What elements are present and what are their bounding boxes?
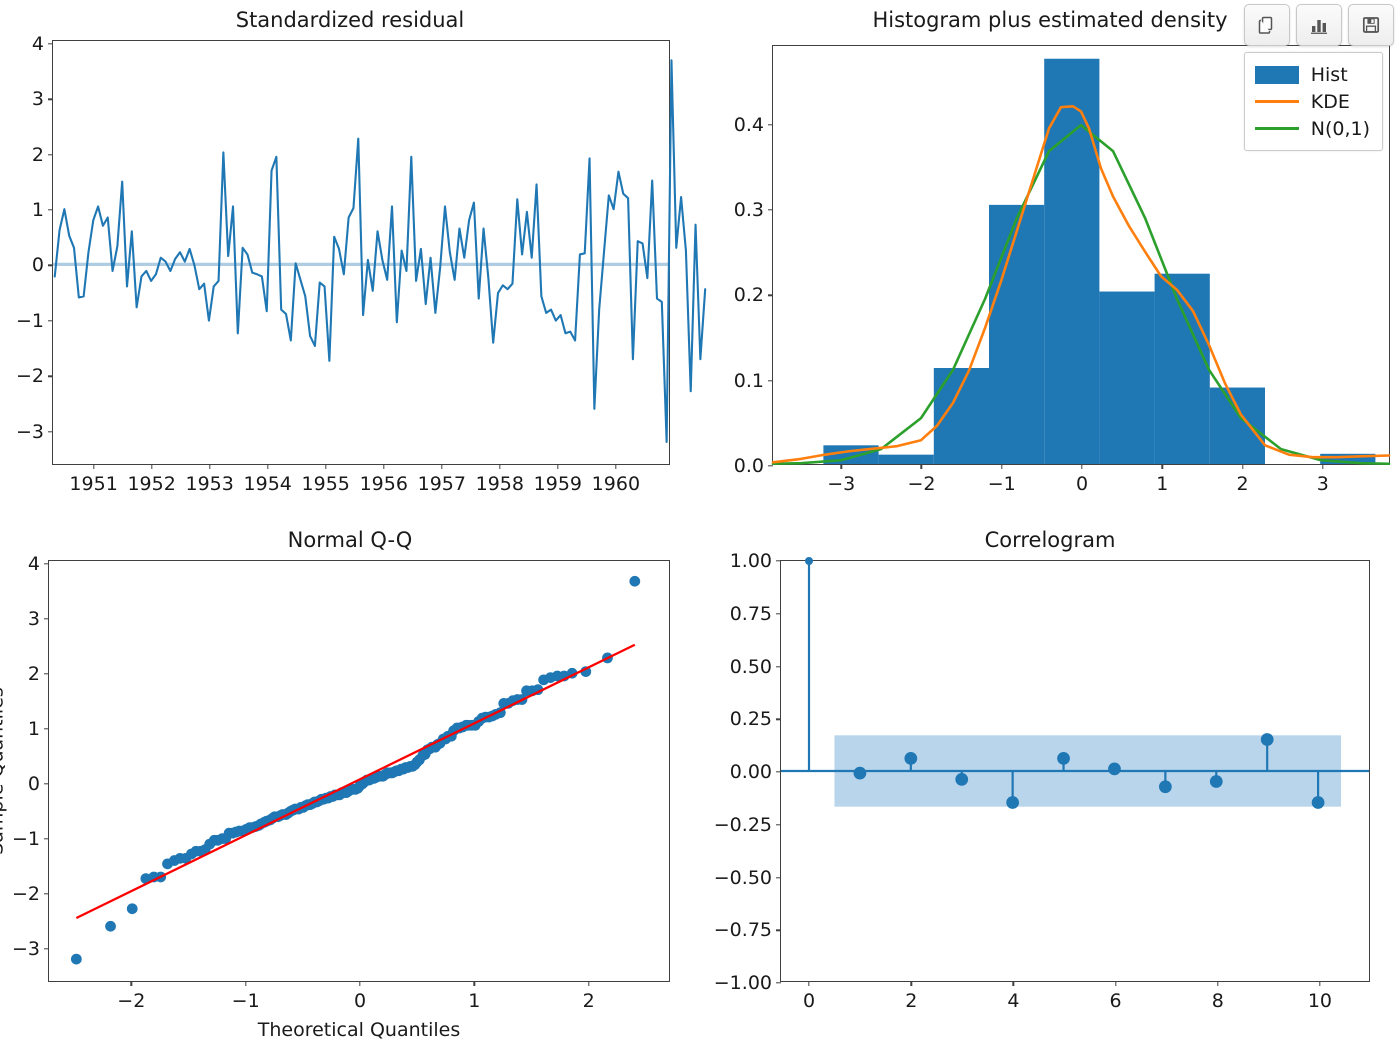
bar-chart-icon [1308, 14, 1330, 36]
legend-swatch-line [1255, 120, 1299, 138]
legend-swatch-patch [1255, 66, 1299, 84]
y-tick-label: −0.75 [714, 919, 772, 941]
x-tick-label: 3 [1317, 473, 1329, 495]
x-tickmark [911, 981, 912, 986]
x-tick-label: 0 [354, 990, 366, 1012]
y-tick-label: 1 [28, 718, 40, 740]
x-tickmark [1001, 464, 1002, 469]
x-tick-label: 1960 [592, 473, 640, 495]
x-tickmark [383, 464, 384, 469]
figure-toolbar [1244, 4, 1394, 46]
y-tick-label: −2 [16, 365, 44, 387]
legend-label: N(0,1) [1311, 118, 1370, 140]
y-tickmark [768, 380, 773, 381]
x-tickmark [1242, 464, 1243, 469]
x-tickmark [1162, 464, 1163, 469]
x-tick-label: 8 [1212, 990, 1224, 1012]
y-tick-label: −3 [12, 938, 40, 960]
panel-title-correlogram: Correlogram [700, 528, 1400, 552]
x-tick-label: 1957 [418, 473, 466, 495]
y-tick-label: 4 [28, 553, 40, 575]
y-tick-label: 0.1 [734, 370, 764, 392]
y-tick-label: 0.0 [734, 455, 764, 477]
legend-item: Hist [1255, 61, 1370, 88]
y-tick-label: 0.50 [730, 656, 772, 678]
y-tick-label: 2 [28, 663, 40, 685]
x-tick-label: 0 [803, 990, 815, 1012]
y-tickmark [768, 124, 773, 125]
plot-correlogram [781, 561, 1369, 981]
y-tickmark [48, 43, 53, 44]
y-tickmark [44, 673, 49, 674]
y-tick-label: 3 [28, 608, 40, 630]
y-tickmark [768, 465, 773, 466]
y-tick-label: 0.2 [734, 284, 764, 306]
x-tick-label: 1951 [69, 473, 117, 495]
x-tickmark [93, 464, 94, 469]
y-tickmark [44, 948, 49, 949]
x-tick-label: 1952 [127, 473, 175, 495]
panel-title-normal-qq: Normal Q-Q [0, 528, 700, 552]
y-tickmark [768, 295, 773, 296]
x-tick-label: 0 [1076, 473, 1088, 495]
x-tick-label: 10 [1308, 990, 1332, 1012]
x-tickmark [325, 464, 326, 469]
y-tickmark [776, 982, 781, 983]
save-floppy-icon [1360, 14, 1382, 36]
x-tickmark [1115, 981, 1116, 986]
chart-options-button[interactable] [1296, 4, 1342, 46]
legend-label: KDE [1311, 91, 1350, 113]
x-tickmark [209, 464, 210, 469]
y-tickmark [776, 666, 781, 667]
x-tickmark [267, 464, 268, 469]
x-tick-label: −1 [232, 990, 260, 1012]
y-tick-label: −2 [12, 883, 40, 905]
y-tick-label: 0.75 [730, 603, 772, 625]
y-tickmark [776, 613, 781, 614]
y-tick-label: 1.00 [730, 550, 772, 572]
x-tick-label: 1959 [534, 473, 582, 495]
x-tick-label: 1958 [476, 473, 524, 495]
y-tickmark [48, 265, 53, 266]
x-tickmark [151, 464, 152, 469]
legend-label: Hist [1311, 64, 1348, 86]
model-diagnostics-figure: Standardized residual −3−2−1012341951195… [0, 0, 1400, 1044]
x-tickmark [499, 464, 500, 469]
y-tickmark [44, 783, 49, 784]
ylabel-normal-qq: Sample Quantiles [0, 687, 8, 855]
x-tick-label: 2 [1236, 473, 1248, 495]
x-tick-label: −1 [988, 473, 1016, 495]
y-tick-label: 3 [32, 88, 44, 110]
copy-to-clipboard-button[interactable] [1244, 4, 1290, 46]
x-tickmark [921, 464, 922, 469]
y-tick-label: 0.3 [734, 199, 764, 221]
y-tickmark [48, 431, 53, 432]
x-tickmark [1322, 464, 1323, 469]
y-tick-label: −1 [12, 828, 40, 850]
y-tickmark [776, 824, 781, 825]
panel-correlogram: Correlogram −1.00−0.75−0.50−0.250.000.25… [700, 520, 1400, 1044]
x-tick-label: 1955 [302, 473, 350, 495]
x-tick-label: 1953 [185, 473, 233, 495]
x-tickmark [841, 464, 842, 469]
y-tickmark [48, 98, 53, 99]
y-tick-label: 4 [32, 33, 44, 55]
axes-histogram-density: HistKDEN(0,1) 0.00.10.20.30.4−3−2−10123 [772, 45, 1390, 465]
y-tickmark [48, 209, 53, 210]
y-tickmark [44, 728, 49, 729]
y-tickmark [776, 930, 781, 931]
y-tickmark [768, 209, 773, 210]
legend-item: KDE [1255, 88, 1370, 115]
x-tickmark [1013, 981, 1014, 986]
x-tickmark [1217, 981, 1218, 986]
plot-normal-qq [49, 561, 669, 981]
x-tick-label: −2 [907, 473, 935, 495]
y-tickmark [44, 563, 49, 564]
x-tickmark [1081, 464, 1082, 469]
y-tick-label: 2 [32, 144, 44, 166]
legend-histogram: HistKDEN(0,1) [1244, 52, 1383, 151]
y-tick-label: −0.50 [714, 867, 772, 889]
y-tickmark [44, 618, 49, 619]
x-tick-label: −2 [117, 990, 145, 1012]
axes-normal-qq: Theoretical Quantiles Sample Quantiles −… [48, 560, 670, 982]
axes-correlogram: −1.00−0.75−0.50−0.250.000.250.500.751.00… [780, 560, 1370, 982]
x-tickmark [615, 464, 616, 469]
y-tickmark [776, 560, 781, 561]
panel-histogram-density: Histogram plus estimated density HistKDE… [700, 0, 1400, 520]
y-tickmark [776, 719, 781, 720]
y-tickmark [776, 771, 781, 772]
y-tickmark [48, 376, 53, 377]
y-tickmark [44, 893, 49, 894]
x-tickmark [245, 981, 246, 986]
y-tick-label: 0.25 [730, 708, 772, 730]
xlabel-normal-qq: Theoretical Quantiles [49, 1019, 669, 1041]
x-tickmark [131, 981, 132, 986]
x-tick-label: 2 [905, 990, 917, 1012]
y-tick-label: 0.00 [730, 761, 772, 783]
y-tickmark [48, 154, 53, 155]
x-tick-label: 1 [1156, 473, 1168, 495]
x-tick-label: 4 [1007, 990, 1019, 1012]
x-tick-label: 2 [583, 990, 595, 1012]
x-tickmark [359, 981, 360, 986]
plot-standardized-residual [53, 41, 669, 464]
x-tick-label: −3 [827, 473, 855, 495]
y-tick-label: 0.4 [734, 114, 764, 136]
save-figure-button[interactable] [1348, 4, 1394, 46]
y-tick-label: −0.25 [714, 814, 772, 836]
panel-normal-qq: Normal Q-Q Theoretical Quantiles Sample … [0, 520, 700, 1044]
y-tick-label: 0 [32, 254, 44, 276]
copy-icon [1256, 14, 1278, 36]
x-tickmark [1319, 981, 1320, 986]
axes-standardized-residual: −3−2−10123419511952195319541955195619571… [52, 40, 670, 465]
x-tickmark [557, 464, 558, 469]
y-tick-label: 1 [32, 199, 44, 221]
y-tickmark [776, 877, 781, 878]
y-tick-label: −1 [16, 310, 44, 332]
x-tickmark [441, 464, 442, 469]
y-tick-label: −3 [16, 421, 44, 443]
x-tickmark [474, 981, 475, 986]
x-tick-label: 1954 [244, 473, 292, 495]
y-tickmark [48, 320, 53, 321]
x-tickmark [808, 981, 809, 986]
x-tickmark [588, 981, 589, 986]
legend-item: N(0,1) [1255, 115, 1370, 142]
x-tick-label: 1956 [360, 473, 408, 495]
panel-standardized-residual: Standardized residual −3−2−1012341951195… [0, 0, 700, 520]
y-tick-label: −1.00 [714, 972, 772, 994]
y-tick-label: 0 [28, 773, 40, 795]
y-tickmark [44, 838, 49, 839]
x-tick-label: 1 [468, 990, 480, 1012]
panel-title-standardized-residual: Standardized residual [0, 8, 700, 32]
x-tick-label: 6 [1110, 990, 1122, 1012]
legend-swatch-line [1255, 93, 1299, 111]
